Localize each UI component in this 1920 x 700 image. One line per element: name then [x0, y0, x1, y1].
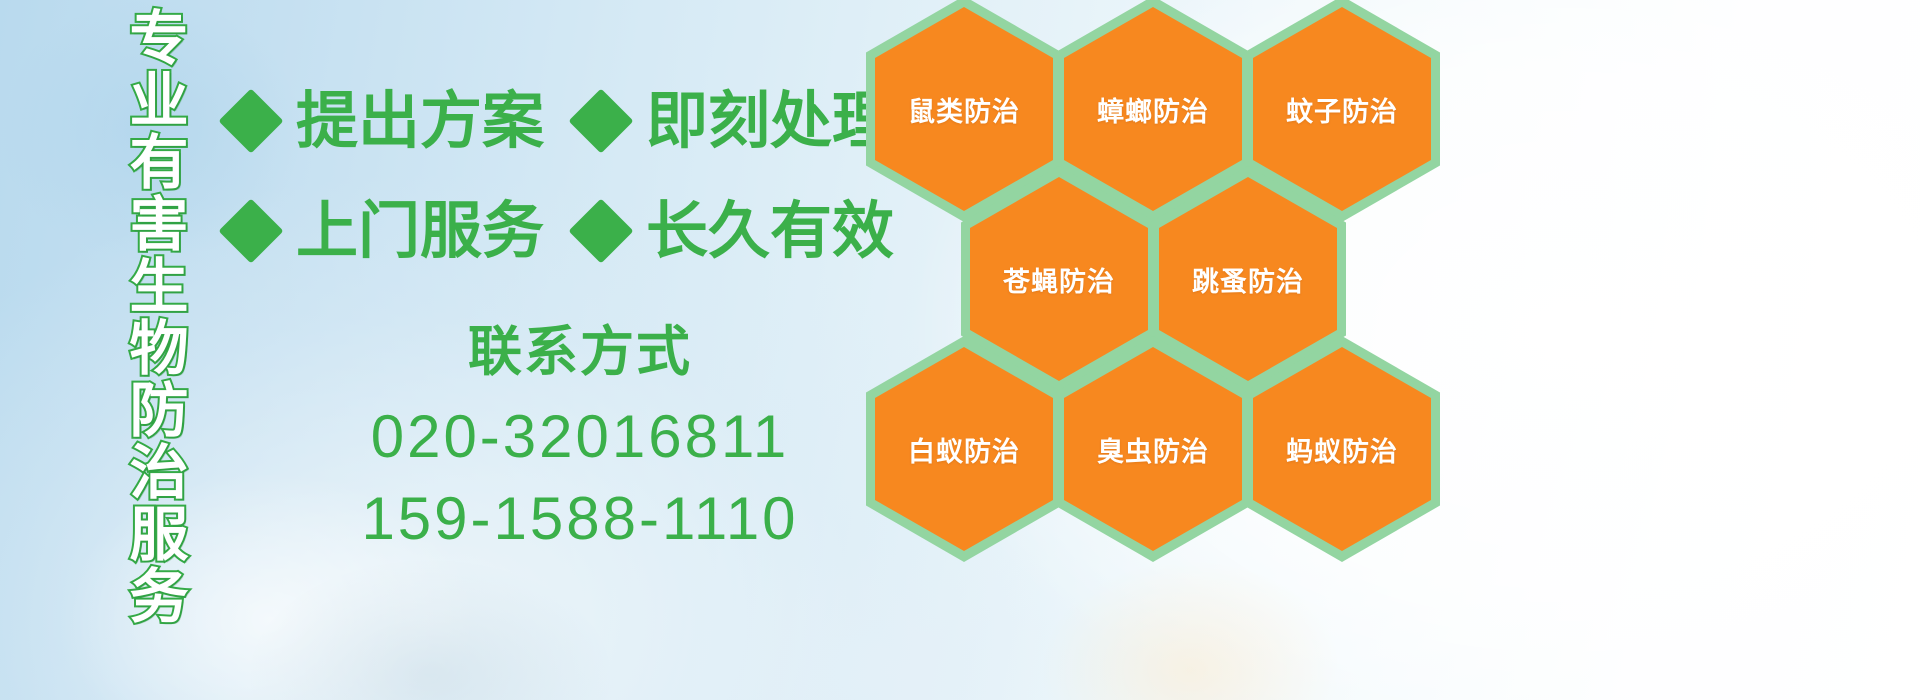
service-hex-label: 白蚁防治 — [908, 430, 1020, 469]
contact-block: 联系方式 020-32016811 159-1588-1110 — [300, 318, 860, 560]
diamond-icon — [218, 88, 283, 153]
feature-label: 上门服务 — [296, 200, 544, 262]
feature-row-1: 提出方案 即刻处理 — [228, 90, 894, 152]
vertical-headline: 专 业 有 害 生 物 防 治 服 务 — [104, 8, 214, 568]
phone-landline[interactable]: 020-32016811 — [300, 396, 860, 478]
feature-row-2: 上门服务 长久有效 — [228, 200, 894, 262]
vertical-headline-char: 防 — [129, 380, 188, 442]
contact-title: 联系方式 — [300, 318, 860, 386]
service-hex-label: 跳蚤防治 — [1192, 260, 1304, 299]
vertical-headline-char: 有 — [129, 132, 188, 194]
vertical-headline-char: 生 — [129, 256, 188, 318]
service-hex-label: 臭虫防治 — [1097, 430, 1209, 469]
pest-control-banner: 专 业 有 害 生 物 防 治 服 务 提出方案 即刻处理 上门服务 长久有效 … — [0, 0, 1920, 700]
vertical-headline-char: 务 — [129, 566, 188, 628]
vertical-headline-char: 业 — [129, 70, 188, 132]
service-hex-termite[interactable]: 白蚁防治 — [866, 336, 1062, 562]
feature-label: 提出方案 — [296, 90, 544, 152]
service-hex-ant[interactable]: 蚂蚁防治 — [1244, 336, 1440, 562]
diamond-icon — [218, 198, 283, 263]
phone-mobile[interactable]: 159-1588-1110 — [300, 478, 860, 560]
diamond-icon — [568, 88, 633, 153]
service-honeycomb: 鼠类防治 蟑螂防治 蚊子防治 苍蝇防治 跳蚤防治 白蚁防治 — [856, 0, 1476, 700]
vertical-headline-char: 专 — [129, 8, 188, 70]
diamond-icon — [568, 198, 633, 263]
vertical-headline-char: 害 — [129, 194, 188, 256]
service-hex-label: 鼠类防治 — [908, 90, 1020, 129]
vertical-headline-char: 治 — [129, 442, 188, 504]
service-hex-label: 苍蝇防治 — [1003, 260, 1115, 299]
service-hex-bedbug[interactable]: 臭虫防治 — [1055, 336, 1251, 562]
vertical-headline-char: 物 — [129, 318, 188, 380]
background-haze-lower-left — [250, 560, 610, 700]
vertical-headline-char: 服 — [129, 504, 188, 566]
service-hex-label: 蚂蚁防治 — [1286, 430, 1398, 469]
service-hex-label: 蟑螂防治 — [1097, 90, 1209, 129]
service-hex-label: 蚊子防治 — [1286, 90, 1398, 129]
